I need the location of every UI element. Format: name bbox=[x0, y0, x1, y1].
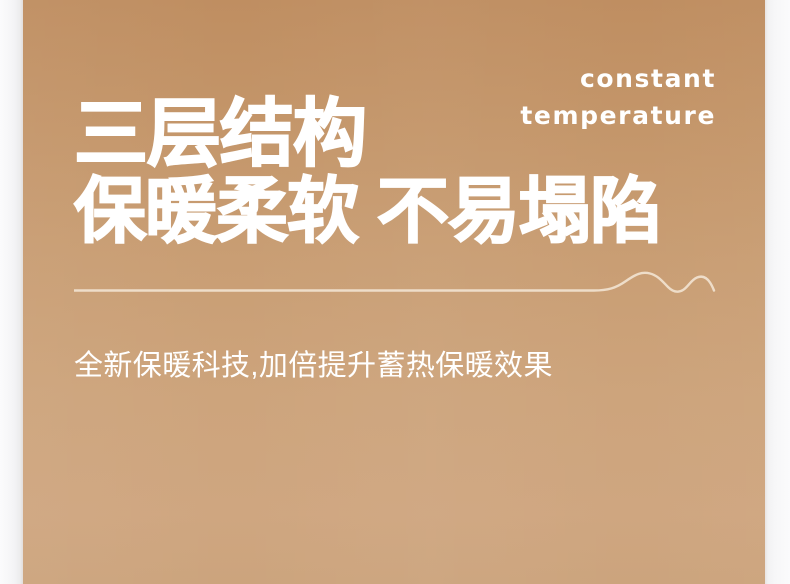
promo-banner: constant temperature 三层结构 保暖柔软 不易塌陷 全新保暖… bbox=[0, 0, 790, 584]
subtitle-text: 全新保暖科技,加倍提升蓄热保暖效果 bbox=[74, 346, 553, 386]
headline: 三层结构 保暖柔软 不易塌陷 bbox=[74, 92, 661, 252]
headline-line-2: 保暖柔软 不易塌陷 bbox=[74, 172, 661, 252]
headline-line-1: 三层结构 bbox=[74, 92, 661, 176]
right-page-margin bbox=[765, 0, 790, 584]
wavy-divider-line bbox=[74, 264, 716, 300]
